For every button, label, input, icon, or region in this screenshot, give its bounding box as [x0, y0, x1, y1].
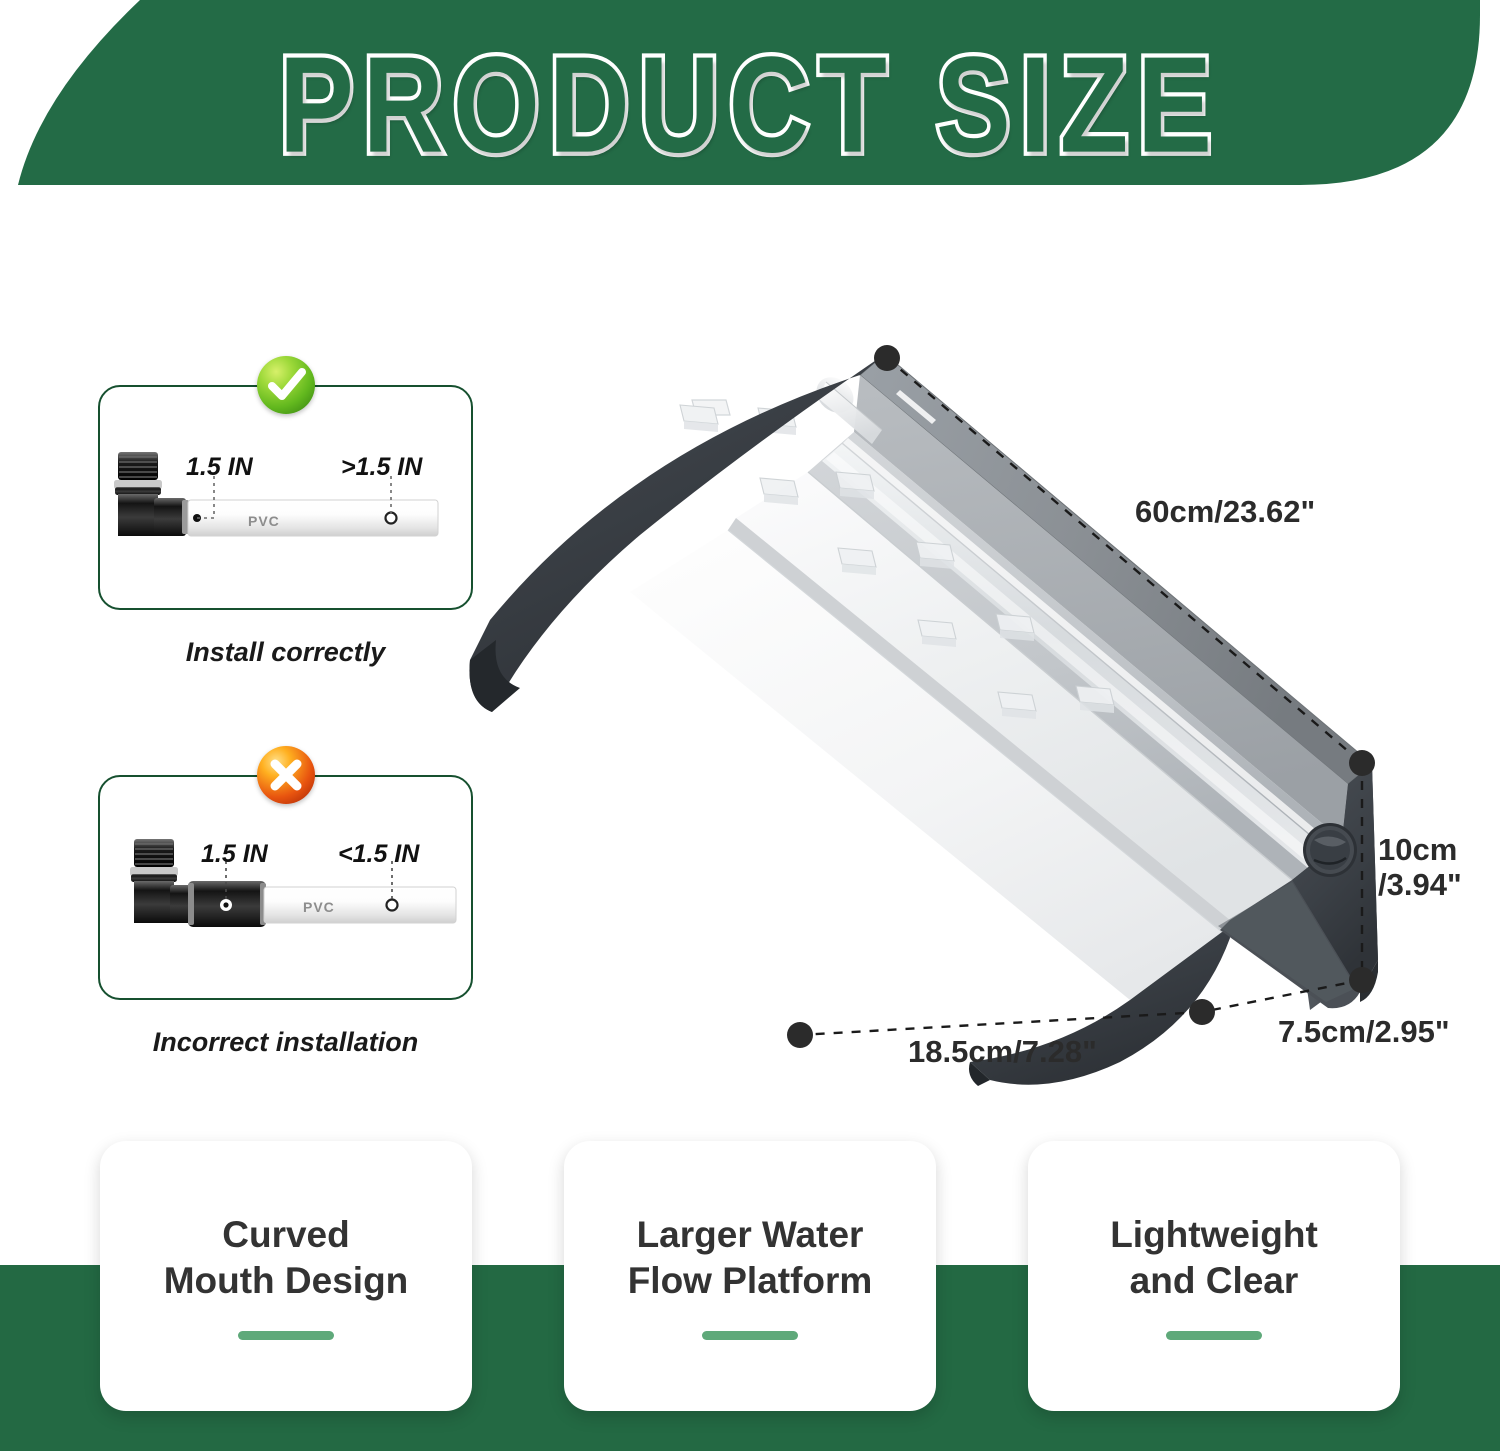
- product-illustration: 60cm/23.62" 10cm /3.94" 18.5cm/7.28" 7.5…: [430, 320, 1500, 1110]
- pvc-pipe-label-correct: PVC: [248, 513, 280, 529]
- feature-accent-bar: [1166, 1331, 1262, 1340]
- feature-title: Curved Mouth Design: [164, 1212, 409, 1302]
- inlet-port-icon: [1303, 823, 1357, 877]
- dimension-label-length: 60cm/23.62": [1135, 495, 1315, 530]
- feature-accent-bar: [238, 1331, 334, 1340]
- install-guide-incorrect: PVC 1.5 IN <1.5 IN Incorrect installatio…: [98, 775, 473, 1065]
- dimension-label-height: 10cm /3.94": [1378, 833, 1462, 902]
- feature-accent-bar: [702, 1331, 798, 1340]
- dimension-right-incorrect: <1.5 IN: [338, 840, 419, 869]
- check-circle-icon: [257, 356, 315, 414]
- dimension-right-correct: >1.5 IN: [341, 453, 422, 482]
- x-circle-icon: [257, 746, 315, 804]
- install-correct-caption: Install correctly: [98, 637, 473, 668]
- feature-title: Larger Water Flow Platform: [628, 1212, 873, 1302]
- pvc-pipe-label-incorrect: PVC: [303, 899, 335, 915]
- install-incorrect-caption: Incorrect installation: [98, 1027, 473, 1058]
- feature-card-lightweight: Lightweight and Clear: [1028, 1141, 1400, 1411]
- feature-title: Lightweight and Clear: [1110, 1212, 1318, 1302]
- header-banner: PRODUCT SIZE: [0, 0, 1500, 195]
- dimension-left-incorrect: 1.5 IN: [201, 840, 268, 869]
- feature-card-curved-mouth: Curved Mouth Design: [100, 1141, 472, 1411]
- feature-card-water-flow: Larger Water Flow Platform: [564, 1141, 936, 1411]
- dimension-label-width: 18.5cm/7.28": [908, 1035, 1097, 1070]
- dimension-label-depth: 7.5cm/2.95": [1278, 1015, 1450, 1050]
- dimension-left-correct: 1.5 IN: [186, 453, 253, 482]
- install-guide-correct: PVC 1.5 IN >1.5 IN Install correctly: [98, 385, 473, 675]
- page-title: PRODUCT SIZE: [0, 26, 1500, 183]
